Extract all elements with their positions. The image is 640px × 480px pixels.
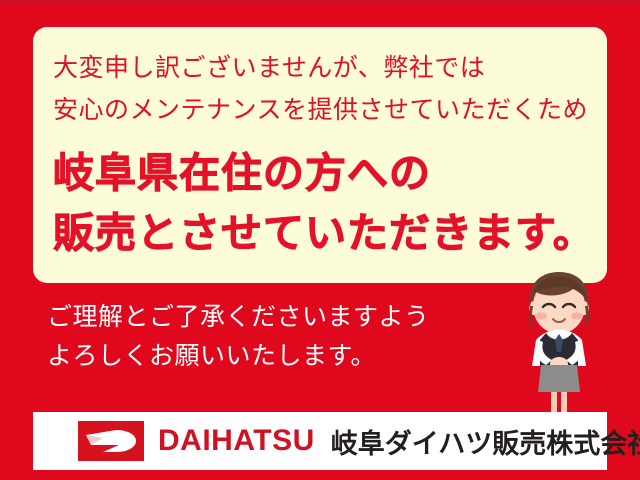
closing-line-2: よろしくお願いいたします。 — [47, 337, 430, 376]
notice-intro-line-2: 安心のメンテナンスを提供させていただくため — [33, 89, 588, 131]
notice-poster: 大変申し訳ございませんが、弊社では 安心のメンテナンスを提供させていただくため … — [0, 0, 640, 480]
closing-line-1: ご理解とご了承くださいますよう — [47, 298, 430, 337]
daihatsu-d-mark-icon — [78, 421, 144, 461]
notice-intro-line-1: 大変申し訳ございませんが、弊社では — [33, 47, 485, 89]
top-edge-accent — [0, 0, 640, 3]
company-name: 岐阜ダイハツ販売株式会社 — [331, 422, 640, 461]
notice-card: 大変申し訳ございませんが、弊社では 安心のメンテナンスを提供させていただくため … — [33, 27, 607, 283]
footer-band: DAIHATSU 岐阜ダイハツ販売株式会社 — [33, 412, 607, 470]
daihatsu-wordmark: DAIHATSU — [158, 424, 315, 458]
notice-emphasis-line-2: 販売とさせていただきます。 — [53, 207, 595, 259]
closing-text-block: ご理解とご了承くださいますよう よろしくお願いいたします。 — [47, 298, 430, 376]
notice-emphasis-line-1: 岐阜県在住の方への — [53, 147, 431, 199]
bowing-staff-illustration — [508, 270, 610, 413]
